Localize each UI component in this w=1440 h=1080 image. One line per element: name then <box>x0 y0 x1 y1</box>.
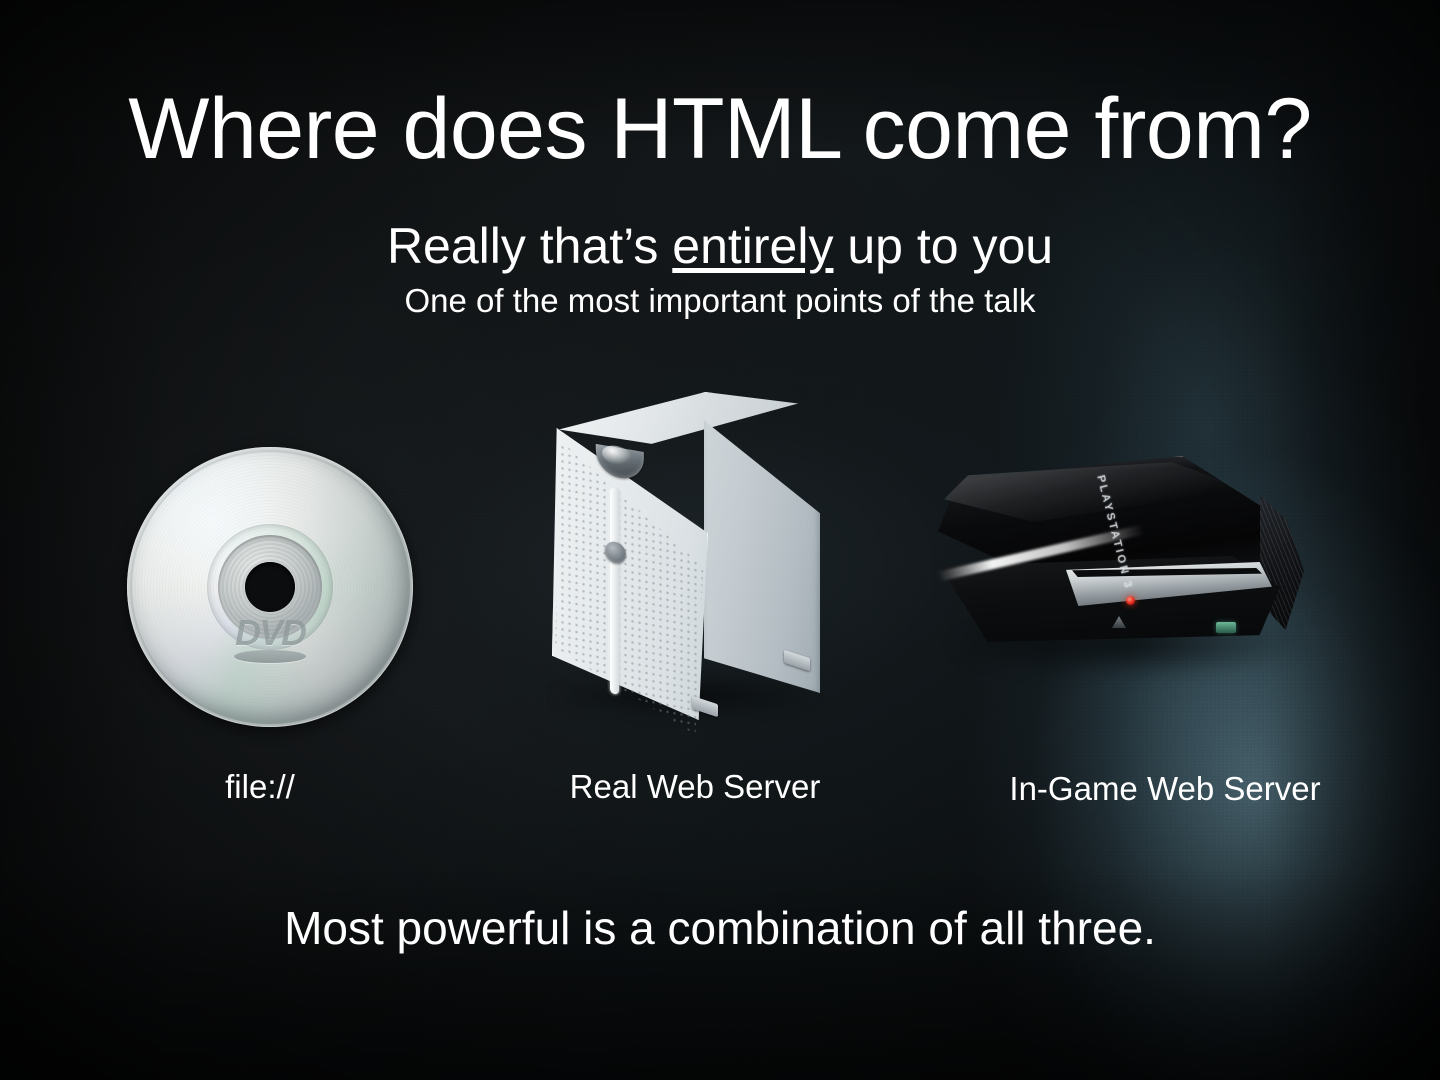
console-port-indicator <box>1216 622 1236 633</box>
server-side-panel <box>704 403 820 693</box>
dvd-disc-icon: DVD <box>127 447 413 727</box>
server-tower-icon <box>540 392 830 722</box>
slide-subtitle-suffix: up to you <box>833 218 1053 274</box>
slide-subtitle: Really that’s entirely up to you <box>0 221 1440 271</box>
slide-subtitle-emphasis: entirely <box>672 218 833 274</box>
dvd-wordmark-text: DVD <box>234 617 306 649</box>
playstation-3-console-icon: PLAYSTATION 3 <box>930 452 1330 682</box>
slide-subnote: One of the most important points of the … <box>0 284 1440 317</box>
presentation-slide: Where does HTML come from? Really that’s… <box>0 0 1440 1080</box>
dvd-wordmark: DVD <box>234 617 306 663</box>
caption-real-web-server: Real Web Server <box>565 770 825 803</box>
slide-title: Where does HTML come from? <box>0 86 1440 172</box>
console-power-led <box>1126 596 1135 605</box>
slide-subtitle-prefix: Really that’s <box>387 218 672 274</box>
dvd-disc-center-hole <box>245 562 295 612</box>
caption-file-protocol: file:// <box>130 770 390 803</box>
caption-in-game-web-server: In-Game Web Server <box>1000 772 1330 805</box>
slide-closing-statement: Most powerful is a combination of all th… <box>0 905 1440 951</box>
server-handle-strip <box>610 487 619 695</box>
